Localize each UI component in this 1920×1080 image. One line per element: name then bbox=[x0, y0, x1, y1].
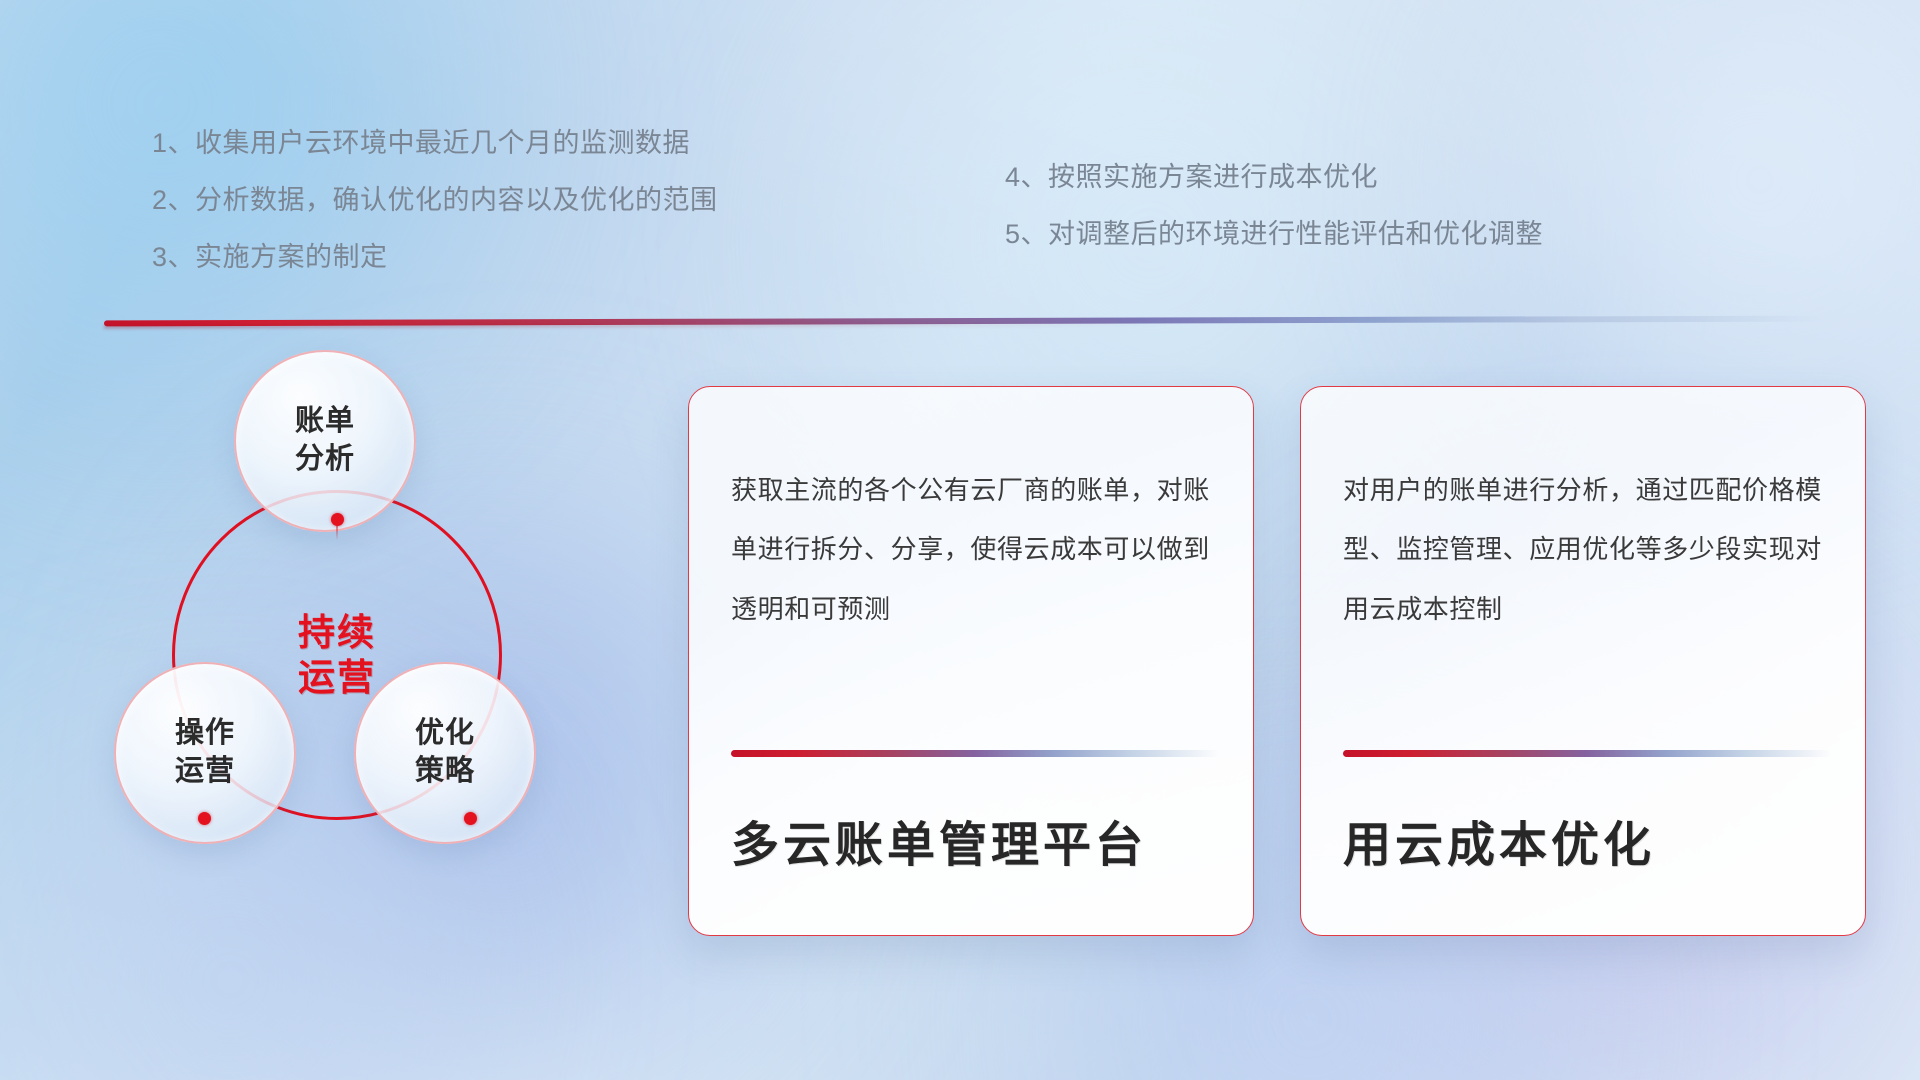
step-item-3: 3、实施方案的制定 bbox=[152, 244, 718, 271]
cycle-dot-top-tail bbox=[336, 526, 338, 540]
cycle-dot-left bbox=[198, 812, 211, 825]
cycle-diagram: 账单 分析 操作 运营 优化 策略 持续 运营 bbox=[92, 350, 632, 950]
info-card-1-body: 获取主流的各个公有云厂商的账单，对账单进行拆分、分享，使得云成本可以做到透明和可… bbox=[731, 461, 1223, 639]
info-card-2-title: 用云成本优化 bbox=[1343, 805, 1843, 875]
info-card-2-body: 对用户的账单进行分析，通过匹配价格模型、监控管理、应用优化等多少段实现对用云成本… bbox=[1343, 461, 1835, 639]
slide-content: 1、收集用户云环境中最近几个月的监测数据 2、分析数据，确认优化的内容以及优化的… bbox=[0, 0, 1920, 1080]
step-item-2: 2、分析数据，确认优化的内容以及优化的范围 bbox=[152, 187, 718, 214]
info-card-1-divider bbox=[731, 750, 1219, 757]
step-item-5: 5、对调整后的环境进行性能评估和优化调整 bbox=[1005, 221, 1543, 248]
info-card-multi-cloud-billing-platform[interactable]: 获取主流的各个公有云厂商的账单，对账单进行拆分、分享，使得云成本可以做到透明和可… bbox=[688, 386, 1254, 936]
cycle-node-optimization-strategy-label: 优化 策略 bbox=[415, 715, 475, 790]
info-card-1-title: 多云账单管理平台 bbox=[731, 805, 1231, 875]
step-item-4: 4、按照实施方案进行成本优化 bbox=[1005, 164, 1543, 191]
cycle-dot-right bbox=[464, 812, 477, 825]
info-card-2-divider bbox=[1343, 750, 1831, 757]
step-item-1: 1、收集用户云环境中最近几个月的监测数据 bbox=[152, 130, 718, 157]
section-divider-rule bbox=[104, 316, 1826, 327]
steps-list-right: 4、按照实施方案进行成本优化 5、对调整后的环境进行性能评估和优化调整 bbox=[1005, 164, 1543, 278]
cycle-node-bill-analysis-label: 账单 分析 bbox=[295, 403, 355, 478]
info-card-cloud-cost-optimization[interactable]: 对用户的账单进行分析，通过匹配价格模型、监控管理、应用优化等多少段实现对用云成本… bbox=[1300, 386, 1866, 936]
cycle-node-operations-label: 操作 运营 bbox=[175, 715, 235, 790]
cycle-dot-top bbox=[331, 513, 344, 526]
steps-list-left: 1、收集用户云环境中最近几个月的监测数据 2、分析数据，确认优化的内容以及优化的… bbox=[152, 130, 718, 301]
cycle-center-label: 持续 运营 bbox=[298, 610, 376, 700]
